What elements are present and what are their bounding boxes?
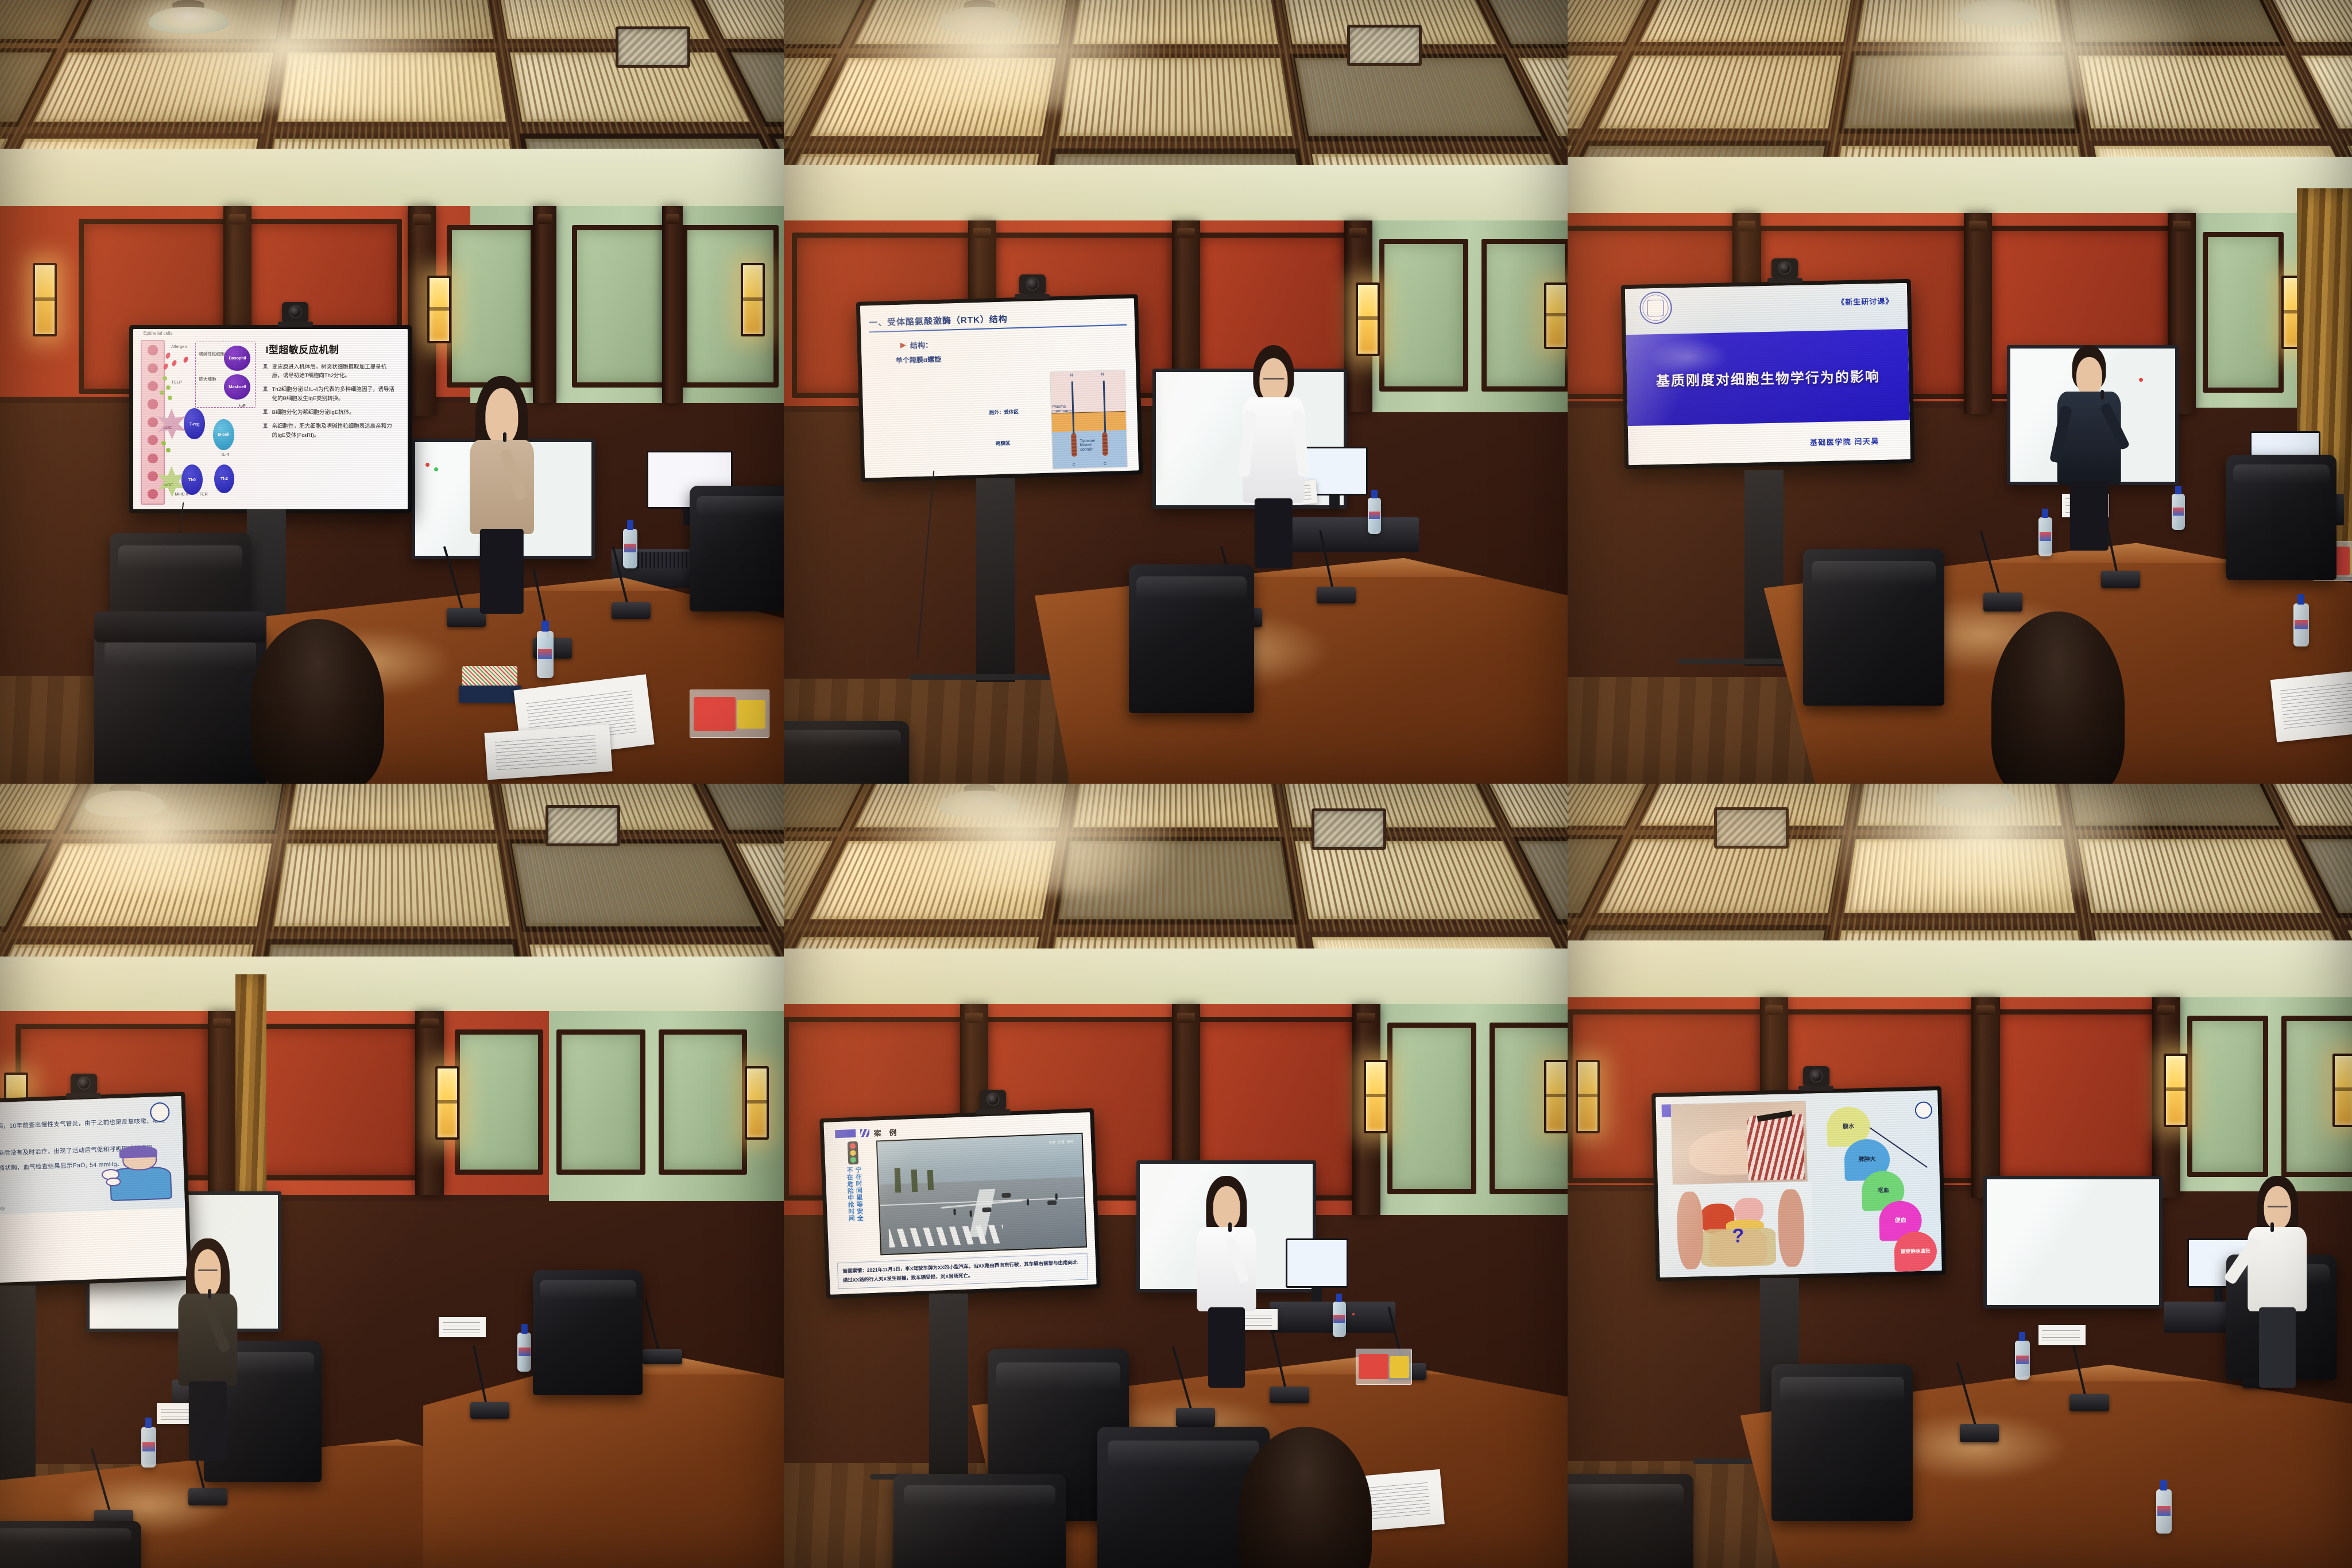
- room-background-p6: ? 腹水 脾肿大 呕血: [1568, 784, 2352, 1568]
- university-seal-icon: [1639, 292, 1672, 324]
- ac-vent-icon: [1312, 808, 1386, 850]
- pin-icon: [262, 386, 269, 393]
- bcell: B-cell: [213, 419, 234, 450]
- presentation-display: ? 腹水 脾肿大 呕血: [1651, 1086, 1946, 1281]
- figure-label-n: N: [1070, 373, 1073, 377]
- water-bottle[interactable]: [537, 631, 554, 678]
- diagram-label-mdc: mDC: [164, 482, 173, 487]
- water-bottle[interactable]: [623, 529, 637, 568]
- wall-sconce-mid: [1356, 282, 1380, 356]
- papers[interactable]: [485, 725, 613, 780]
- wall-sconce-mid: [1364, 1060, 1388, 1133]
- presenter: [172, 1238, 243, 1458]
- chair: [893, 1474, 1066, 1568]
- slide-surface: 案 例 不在危险中抢时间 宁在时间里等安全: [824, 1112, 1097, 1295]
- pin-icon: [262, 423, 269, 429]
- diagram-label-basophil-cn: 嗜碱性粒细胞: [199, 351, 225, 357]
- bullet-text: B细胞分化为浆细胞分泌IgE抗体。: [272, 408, 355, 417]
- slide-bullet: B细胞分化为浆细胞分泌IgE抗体。: [262, 408, 397, 417]
- ceiling-light: [1932, 784, 2018, 808]
- slide-surface: 一、受体酪氨酸激酶（RTK）结构 结构： 单个跨膜α螺旋 胞外：受体区 跨膜区 …: [860, 298, 1139, 478]
- presenter: [2054, 345, 2125, 549]
- ptz-camera-icon: [1771, 258, 1798, 278]
- figure-label-kinase-domain: Tyrosine kinase domain: [1080, 438, 1101, 452]
- bullet-text: 亲细胞性，肥大细胞及嗜碱性粒细胞表达高亲和力的IgE受体(FcεRI)。: [272, 422, 397, 440]
- wall-sconce-right: [1544, 1060, 1568, 1133]
- figure-label-c: C: [1103, 462, 1106, 466]
- diagram-label-epithelial: Epithelial cells: [144, 331, 173, 336]
- slide-surface: 《新生研讨课》 基质刚度对细胞生物学行为的影响 基础医学院 闫天昊: [1624, 283, 1910, 465]
- slide-bullet: 结构：: [900, 334, 1127, 351]
- wall-sconce-right: [1544, 282, 1568, 349]
- water-bottle[interactable]: [2038, 517, 2053, 556]
- slide-title: I型超敏反应机制: [266, 342, 397, 356]
- display-stand: [0, 1286, 35, 1489]
- slide-copd-case: 退休在家邻居王大爷，因为长期吸烟，10年前查出慢性支气管炎，由于之前也是反复咳嗽…: [0, 1096, 185, 1218]
- water-bottle[interactable]: [1368, 498, 1381, 534]
- room-background-p2: 一、受体酪氨酸激酶（RTK）结构 结构： 单个跨膜α螺旋 胞外：受体区 跨膜区 …: [784, 0, 1568, 784]
- th0-cell: Th0: [181, 464, 203, 495]
- slide-bullet: Th2细胞分泌以IL-4为代表的多种细胞因子，诱导活化的B细胞发生IgE类别转换…: [262, 385, 397, 403]
- ptz-camera-icon: [71, 1074, 97, 1093]
- diagram-label-pdc: pDC: [164, 425, 172, 430]
- conference-microphone[interactable]: [1270, 1333, 1309, 1403]
- whiteboard: [1983, 1176, 2163, 1308]
- water-bottle[interactable]: [1333, 1302, 1346, 1338]
- presentation-display: 退休在家邻居王大爷，因为长期吸烟，10年前查出慢性支气管炎，由于之前也是反复咳嗽…: [0, 1092, 191, 1291]
- wall-sconce-right: [2332, 1054, 2352, 1127]
- diagram-label-tcr: TCR: [199, 491, 207, 497]
- label-transmembrane: 跨膜区: [995, 439, 1010, 447]
- slide-type-i-hypersensitivity: Epithelial cells Allergen TSLP: [133, 329, 407, 509]
- chair: [0, 1521, 141, 1568]
- presenter: [1192, 1176, 1262, 1388]
- cctv-video-still: 吉林 长春 南关: [876, 1133, 1088, 1256]
- wall-sconce-mid: [427, 276, 451, 343]
- diagram-label-mastcell-cn: 肥大细胞: [199, 376, 216, 382]
- heading-slash-icon: [860, 1129, 870, 1137]
- panel-traffic-safety-case: 案 例 不在危险中抢时间 宁在时间里等安全: [784, 784, 1568, 1568]
- ceiling-light: [937, 0, 1023, 32]
- chair: [1771, 1364, 1913, 1521]
- traffic-light-icon: [848, 1141, 859, 1165]
- ptz-camera-icon: [980, 1090, 1006, 1109]
- university-seal-icon: [1915, 1101, 1933, 1119]
- room-background-p5: 案 例 不在危险中抢时间 宁在时间里等安全: [784, 784, 1568, 1568]
- conference-microphone[interactable]: [470, 1349, 509, 1419]
- room-background-p4: 退休在家邻居王大爷，因为长期吸烟，10年前查出慢性支气管炎，由于之前也是反复咳嗽…: [0, 784, 784, 1568]
- room-background-p3: 《新生研讨课》 基质刚度对细胞生物学行为的影响 基础医学院 闫天昊: [1568, 0, 2352, 784]
- chair: [690, 486, 784, 611]
- presentation-display: 案 例 不在危险中抢时间 宁在时间里等安全: [819, 1108, 1100, 1299]
- label-extracellular: 胞外：受体区: [989, 408, 1018, 416]
- ceiling-light: [937, 784, 1023, 816]
- papers[interactable]: [2270, 668, 2352, 742]
- panel-receptor-tyrosine-kinase: 一、受体酪氨酸激酶（RTK）结构 结构： 单个跨膜α螺旋 胞外：受体区 跨膜区 …: [784, 0, 1568, 784]
- water-bottle[interactable]: [2156, 1489, 2172, 1533]
- pin-icon: [262, 364, 269, 370]
- bullet-text: 结构：: [910, 339, 933, 350]
- papers[interactable]: [2038, 1325, 2086, 1346]
- wall-sconce-left: [33, 263, 57, 336]
- bullet-text: Th2细胞分泌以IL-4为代表的多种细胞因子，诱导活化的B细胞发生IgE类别转换…: [272, 385, 397, 403]
- ptz-camera-icon: [282, 302, 308, 322]
- patient-illustration: [103, 1145, 175, 1199]
- presenter: [462, 376, 541, 611]
- ac-vent-icon: [1714, 807, 1789, 849]
- panel-copd-case: 退休在家邻居王大爷，因为长期吸烟，10年前查出慢性支气管炎，由于之前也是反复咳嗽…: [0, 784, 784, 1568]
- slide-main-title: 基质刚度对细胞生物学行为的影响: [1655, 365, 1880, 390]
- water-bottle[interactable]: [517, 1333, 532, 1372]
- arrow-bullet-icon: [900, 342, 906, 348]
- conference-microphone[interactable]: [2069, 1341, 2109, 1411]
- ceiling-light: [82, 784, 168, 816]
- room-background-p1: Epithelial cells Allergen TSLP: [0, 0, 784, 784]
- presenter: [1239, 345, 1309, 564]
- th2-cell: Th2: [214, 464, 234, 493]
- chair: [1568, 1474, 1693, 1568]
- chair: [1129, 564, 1254, 713]
- notebook[interactable]: [459, 686, 521, 703]
- patient-photo: [1670, 1101, 1808, 1184]
- photo-collage: Epithelial cells Allergen TSLP: [0, 0, 2352, 1568]
- ptz-camera-icon: [1803, 1066, 1829, 1086]
- ac-vent-icon: [1347, 25, 1422, 66]
- heading-chip-icon: [835, 1129, 856, 1138]
- diagram-label-tslp: TSLP: [171, 380, 182, 385]
- wall-sconce-right: [741, 263, 765, 336]
- question-mark: ?: [1732, 1225, 1744, 1247]
- slide-rtk-structure: 一、受体酪氨酸激酶（RTK）结构 结构： 单个跨膜α螺旋 胞外：受体区 跨膜区 …: [860, 298, 1139, 478]
- footer-en: College of Basic Medical Science, Jilin …: [0, 1206, 5, 1214]
- figure-label-c: C: [1072, 463, 1075, 467]
- slide-traffic-case: 案 例 不在危险中抢时间 宁在时间里等安全: [824, 1112, 1097, 1295]
- sign-bubble: 腹壁静脉曲张: [1894, 1231, 1937, 1272]
- mast-cell: Mast-cell: [224, 374, 250, 400]
- ceiling-light: [1956, 0, 2042, 25]
- slide-title-page: 《新生研讨课》 基质刚度对细胞生物学行为的影响 基础医学院 闫天昊: [1624, 283, 1910, 465]
- wall-sconce-mid: [2164, 1054, 2188, 1127]
- slide-bullet: 亲细胞性，肥大细胞及嗜碱性粒细胞表达高亲和力的IgE受体(FcεRI)。: [262, 422, 397, 440]
- slide-line: 单个跨膜α螺旋: [895, 349, 1127, 365]
- pin-icon: [262, 409, 269, 416]
- diagram-label-il4: IL-4: [222, 452, 229, 457]
- ac-vent-icon: [546, 805, 620, 846]
- basophil-cell: Basophil: [224, 346, 250, 371]
- chair: [784, 721, 909, 784]
- water-bottle[interactable]: [2015, 1341, 2030, 1380]
- control-monitor: [1286, 1238, 1348, 1301]
- slide-footer: 基础医学院 College of Basic Medical Science, …: [0, 1205, 5, 1215]
- chair: [1803, 549, 1944, 706]
- slide-surface: 退休在家邻居王大爷，因为长期吸烟，10年前查出慢性支气管炎，由于之前也是反复咳嗽…: [0, 1096, 187, 1287]
- figure-label-n: N: [1101, 373, 1104, 377]
- course-label: 《新生研讨课》: [1837, 296, 1893, 308]
- conference-microphone[interactable]: [643, 1302, 682, 1364]
- slide-heading: 一、受体酪氨酸激酶（RTK）结构: [868, 309, 1126, 333]
- fruit-container[interactable]: [690, 690, 769, 738]
- anatomy-illustration: ?: [1668, 1182, 1814, 1275]
- treg-cell: T-reg: [184, 408, 205, 439]
- slide-heading: 案 例: [874, 1126, 900, 1138]
- conference-microphone[interactable]: [1317, 533, 1356, 603]
- slide-surface: Epithelial cells Allergen TSLP: [133, 329, 407, 509]
- slide-author: 基础医学院 闫天昊: [1809, 435, 1879, 448]
- chair: [2226, 455, 2336, 580]
- presentation-display: 《新生研讨课》 基质刚度对细胞生物学行为的影响 基础医学院 闫天昊: [1620, 279, 1914, 469]
- wall-sconce-left: [1576, 1060, 1600, 1133]
- figure-label-plasma-membrane: Plasma membrane: [1052, 404, 1071, 413]
- display-stand: [976, 478, 1015, 682]
- monitor-screen: [1286, 1238, 1348, 1287]
- chair: [94, 627, 266, 784]
- panel-cirrhosis-signs: ? 腹水 脾肿大 呕血: [1568, 784, 2352, 1568]
- conference-microphone[interactable]: [1960, 1364, 1999, 1443]
- ceiling-light: [145, 0, 231, 32]
- rtk-figure: N N C C Plasma membrane: [1050, 370, 1128, 470]
- slide-bullet: 变应原进入机体后，树突状细胞摄取加工提呈抗原，诱导初始T细胞向Th2分化。: [262, 363, 397, 381]
- presenter: [2242, 1176, 2313, 1388]
- panel-type-i-hypersensitivity: Epithelial cells Allergen TSLP: [0, 0, 784, 784]
- epithelial-cell-column: [141, 340, 164, 504]
- water-bottle[interactable]: [141, 1427, 156, 1468]
- chair: [533, 1270, 643, 1396]
- diagram-label-ige: IgE: [239, 403, 246, 408]
- ptz-camera-icon: [1019, 274, 1046, 294]
- papers[interactable]: [439, 1317, 486, 1338]
- fruit-container[interactable]: [1356, 1349, 1412, 1385]
- display-stand: [929, 1294, 968, 1482]
- diagram-label-allergen: Allergen: [171, 344, 187, 349]
- presentation-display: Epithelial cells Allergen TSLP: [129, 325, 411, 513]
- video-overlay-text: 吉林 长春 南关: [1049, 1139, 1074, 1145]
- presentation-display: 一、受体酪氨酸激酶（RTK）结构 结构： 单个跨膜α螺旋 胞外：受体区 跨膜区 …: [856, 294, 1143, 482]
- water-bottle[interactable]: [2172, 494, 2185, 530]
- safety-slogan: 不在危险中抢时间 宁在时间里等安全: [833, 1141, 877, 1257]
- audience-member: [251, 619, 384, 784]
- slide-cirrhosis: ? 腹水 脾肿大 呕血: [1655, 1090, 1942, 1277]
- bullet-text: 变应原进入机体后，树突状细胞摄取加工提呈抗原，诱导初始T细胞向Th2分化。: [272, 363, 397, 381]
- ac-vent-icon: [616, 26, 690, 68]
- slogan-line-1: 宁在时间里等安全: [854, 1166, 864, 1221]
- wall-sconce-mid: [435, 1066, 459, 1140]
- slogan-line-2: 不在危险中抢时间: [846, 1167, 855, 1222]
- conference-microphone[interactable]: [1983, 533, 2022, 611]
- water-bottle[interactable]: [2293, 603, 2309, 646]
- slide-surface: ? 腹水 脾肿大 呕血: [1655, 1090, 1942, 1277]
- panel-substrate-stiffness: 《新生研讨课》 基质刚度对细胞生物学行为的影响 基础医学院 闫天昊: [1568, 0, 2352, 784]
- wall-sconce-right: [745, 1066, 769, 1140]
- conference-microphone[interactable]: [94, 1450, 133, 1529]
